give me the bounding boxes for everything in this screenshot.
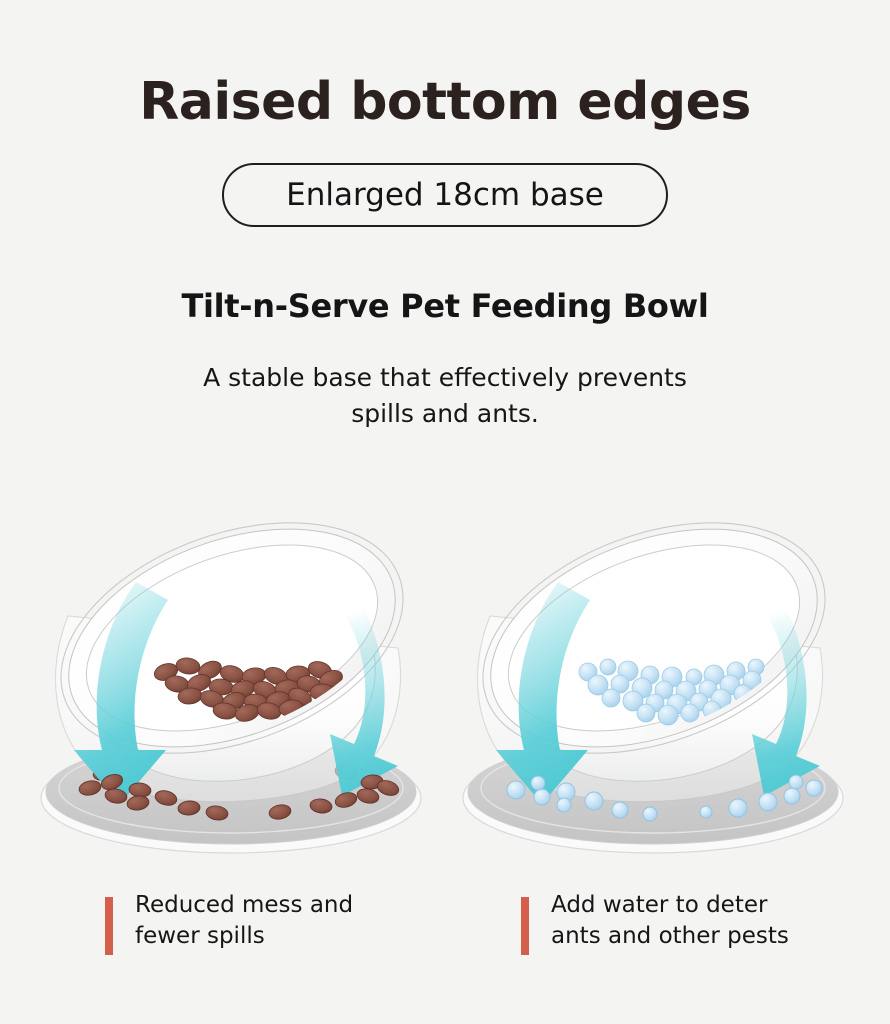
feature-pill-label: Enlarged 18cm base	[286, 178, 604, 212]
caption-reduced-mess: Reduced mess and fewer spills	[105, 890, 353, 955]
tagline-line-1: A stable base that effectively prevents	[203, 363, 687, 392]
bowl-illustration-water	[438, 520, 868, 870]
illustration-row	[0, 520, 890, 870]
caption-add-water: Add water to deter ants and other pests	[521, 890, 789, 955]
page-headline: Raised bottom edges	[0, 72, 890, 132]
caption-row: Reduced mess and fewer spills Add water …	[0, 890, 890, 980]
caption-text: Add water to deter ants and other pests	[551, 890, 789, 952]
bowl-illustration-kibble	[16, 520, 446, 870]
tagline-line-2: spills and ants.	[0, 396, 890, 432]
feature-pill-badge: Enlarged 18cm base	[222, 163, 668, 227]
infographic-page: Raised bottom edges Enlarged 18cm base T…	[0, 0, 890, 1024]
product-tagline: A stable base that effectively prevents …	[0, 360, 890, 432]
accent-bar-icon	[521, 897, 529, 955]
caption-text: Reduced mess and fewer spills	[135, 890, 353, 952]
product-title: Tilt-n-Serve Pet Feeding Bowl	[0, 286, 890, 326]
accent-bar-icon	[105, 897, 113, 955]
